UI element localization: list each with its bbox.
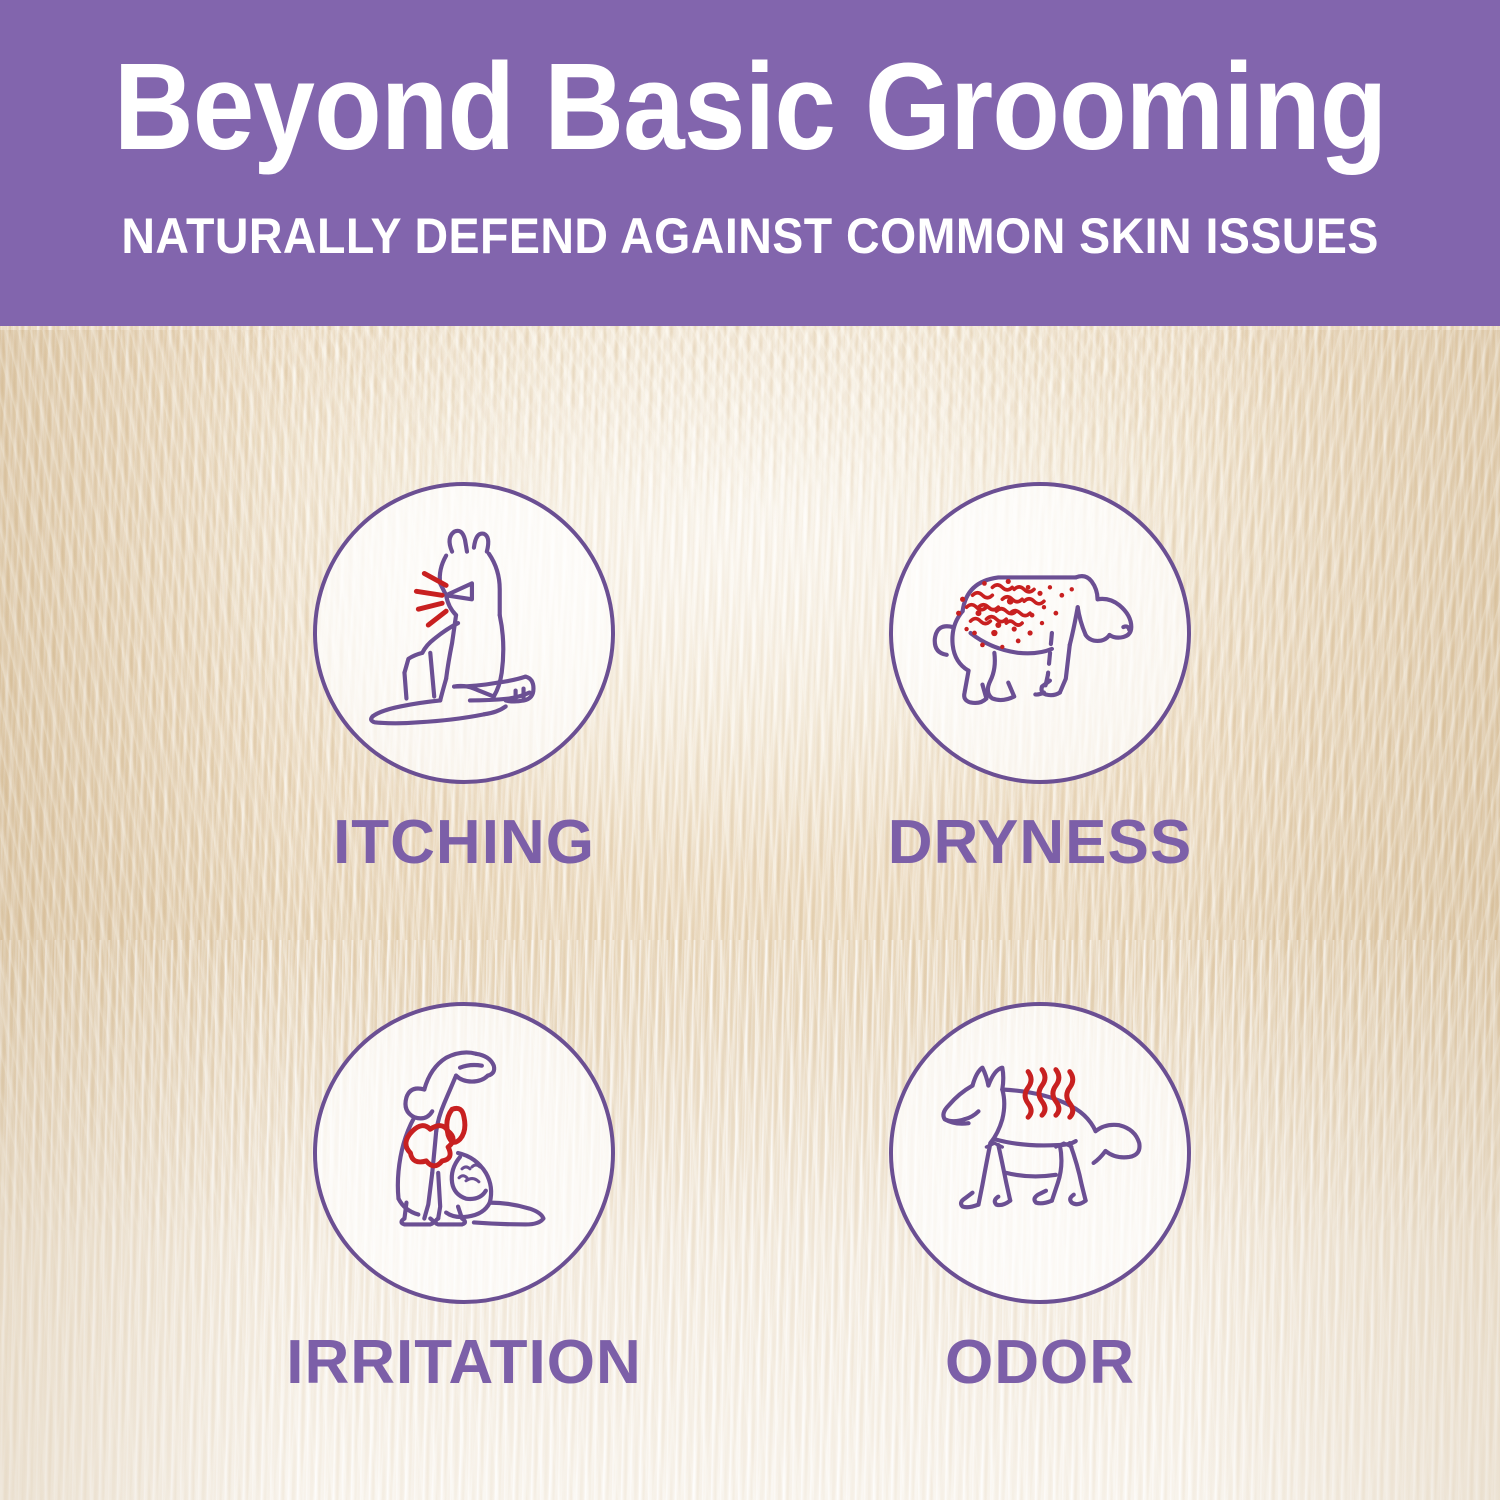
benefits-grid: ITCHING [0,326,1500,1500]
benefit-label: IRRITATION [286,1332,642,1394]
icon-circle-odor [889,1002,1191,1304]
dog-scratching-icon [335,504,593,762]
benefit-label: DRYNESS [888,812,1192,874]
page-subtitle: NATURALLY DEFEND AGAINST COMMON SKIN ISS… [121,211,1378,261]
benefit-item-irritation: IRRITATION [254,1002,674,1394]
benefit-item-dryness: DRYNESS [830,482,1250,874]
dog-flaky-skin-icon [911,504,1169,762]
dog-odor-waves-icon [911,1024,1169,1282]
icon-circle-irritation [313,1002,615,1304]
product-infographic: Beyond Basic Grooming NATURALLY DEFEND A… [0,0,1500,1500]
benefit-item-odor: ODOR [830,1002,1250,1394]
page-title: Beyond Basic Grooming [114,46,1387,169]
dog-irritated-patch-icon [335,1024,593,1282]
benefit-label: ITCHING [333,812,595,874]
icon-circle-dryness [889,482,1191,784]
header-banner: Beyond Basic Grooming NATURALLY DEFEND A… [0,0,1500,326]
benefit-label: ODOR [945,1332,1135,1394]
benefit-item-itching: ITCHING [254,482,674,874]
icon-circle-itching [313,482,615,784]
